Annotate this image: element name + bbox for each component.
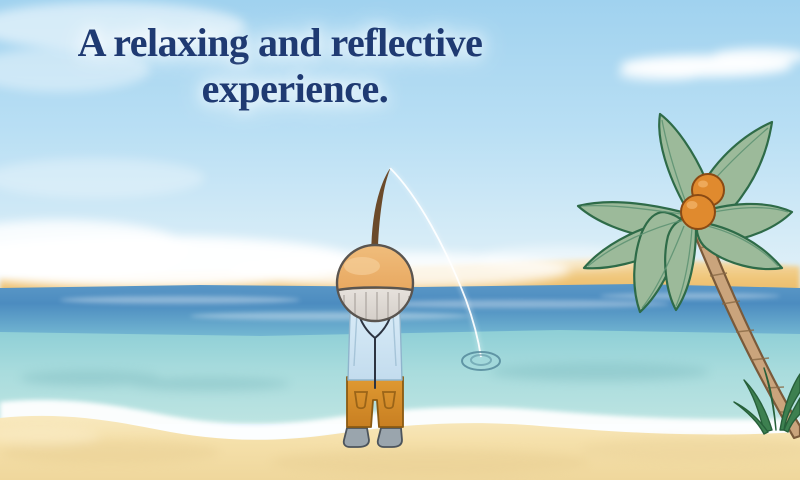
water-ripple bbox=[462, 352, 500, 370]
scene-canvas: A relaxing and reflective experience. bbox=[0, 0, 800, 480]
character-shoes bbox=[344, 428, 402, 447]
shoe-right bbox=[378, 428, 402, 447]
character-head-group bbox=[330, 245, 420, 326]
shoe-left bbox=[344, 428, 369, 447]
head-highlight bbox=[344, 257, 380, 275]
fisherman bbox=[330, 245, 420, 447]
character-layer bbox=[0, 0, 800, 480]
